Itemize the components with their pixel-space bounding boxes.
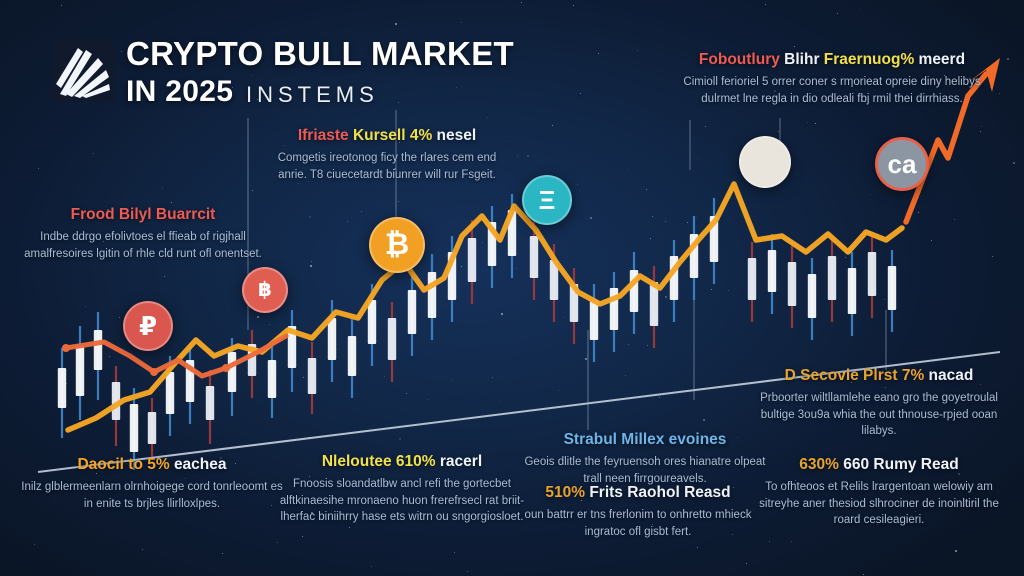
coin-badge-red-small: ฿ (242, 267, 288, 313)
annotation-heading: Frood Bilyl Buarrcit (18, 205, 268, 224)
heading-segment: D Secovie Plrst 7% (785, 367, 929, 384)
heading-segment: Kursell 4% (353, 127, 437, 144)
page-subtitle: INSTEMS (246, 82, 379, 108)
annotation-heading: Foboutlury Blihr Fraernuog% meerd (672, 50, 992, 69)
annotation-top-left-red: Frood Bilyl BuarrcitIndbe ddrgo efolivto… (18, 205, 268, 262)
annotation-heading: 630% 660 Rumy Read (748, 455, 1010, 474)
annotation-body: To ofhteoos et Relils lrargentoan welowi… (748, 479, 1010, 529)
heading-segment: eachea (174, 456, 227, 473)
title-line-2: IN 2025 (126, 75, 233, 108)
heading-segment: Daocil to 5% (77, 456, 173, 473)
coin-glyph: ₽ (139, 313, 157, 339)
coin-glyph: ₿ (385, 230, 409, 260)
coin-glyph: Ξ (539, 187, 556, 213)
annotation-heading: Strabul Millex evoines (520, 430, 770, 449)
heading-segment: meerd (919, 51, 966, 68)
annotation-heading: Ifriaste Kursell 4% nesel (272, 126, 502, 145)
heading-segment: 510% (545, 484, 589, 501)
coin-badge-red-left: ₽ (123, 301, 173, 351)
coin-glyph: ฿ (258, 280, 272, 300)
coin-badge-ethereum: Ξ (522, 175, 572, 225)
heading-segment: Foboutlury (699, 51, 784, 68)
annotation-heading: Nleloutee 610% racerl (276, 452, 528, 471)
annotation-right-low-gold: 630% 660 Rumy ReadTo ofhteoos et Relils … (748, 455, 1010, 529)
heading-segment: Frits Raohol Reasd (589, 484, 730, 501)
annotation-body: oun battrr er tns frerlonim to onhretto … (512, 507, 764, 540)
annotation-heading: Daocil to 5% eachea (18, 455, 286, 474)
burst-logo (52, 40, 114, 102)
annotation-body: Comgetis ireotonog ficy the rlares cem e… (272, 150, 502, 183)
title-line-1: CRYPTO BULL MARKET (126, 35, 514, 72)
annotation-heading: 510% Frits Raohol Reasd (512, 483, 764, 502)
heading-segment: Blihr (784, 51, 824, 68)
annotation-body: Prboorter wiltllamlehe eano gro the goye… (748, 390, 1010, 440)
heading-segment: nesel (437, 127, 477, 144)
annotation-bottom-mid-yellow: Nleloutee 610% racerlFnoosis sloandatlbw… (276, 452, 528, 526)
coin-glyph: ca (888, 151, 917, 177)
annotation-bottom-center-blue: Strabul Millex evoinesGeois dlitle the f… (520, 430, 770, 487)
annotation-top-mid-orange: Ifriaste Kursell 4% neselComgetis ireoto… (272, 126, 502, 183)
annotation-heading: D Secovie Plrst 7% nacad (748, 366, 1010, 385)
coin-badge-map (739, 136, 791, 188)
annotation-body: Inilz glblermeenlarn olrnhoigege cord to… (18, 479, 286, 512)
heading-segment: nacad (929, 367, 974, 384)
annotation-body: Fnoosis sloandatlbw ancl refi the gortec… (276, 476, 528, 526)
annotation-bottom-left-orange: Daocil to 5% eacheaInilz glblermeenlarn … (18, 455, 286, 512)
coin-badge-bitcoin: ₿ (369, 217, 425, 273)
annotation-bottom-center-gold: 510% Frits Raohol Reasdoun battrr er tns… (512, 483, 764, 540)
annotation-body: Cimioll ferioriel 5 orrer coner s rmorie… (672, 74, 992, 107)
annotation-body: Indbe ddrgo efolivtoes el ffieab of rigj… (18, 229, 268, 262)
heading-segment: 660 Rumy Read (843, 456, 958, 473)
annotation-top-right-red: Foboutlury Blihr Fraernuog% meerdCimioll… (672, 50, 992, 107)
heading-segment: Nleloutee 610% (322, 453, 440, 470)
heading-segment: 630% (799, 456, 843, 473)
annotation-right-mid-gold: D Secovie Plrst 7% nacadPrboorter wiltll… (748, 366, 1010, 440)
heading-segment: racerl (440, 453, 482, 470)
coin-badge-ca: ca (875, 137, 929, 191)
infographic-canvas: CRYPTO BULL MARKET IN 2025 INSTEMS Frood… (0, 0, 1024, 576)
heading-segment: Fraernuog% (824, 51, 919, 68)
heading-segment: Ifriaste (298, 127, 353, 144)
